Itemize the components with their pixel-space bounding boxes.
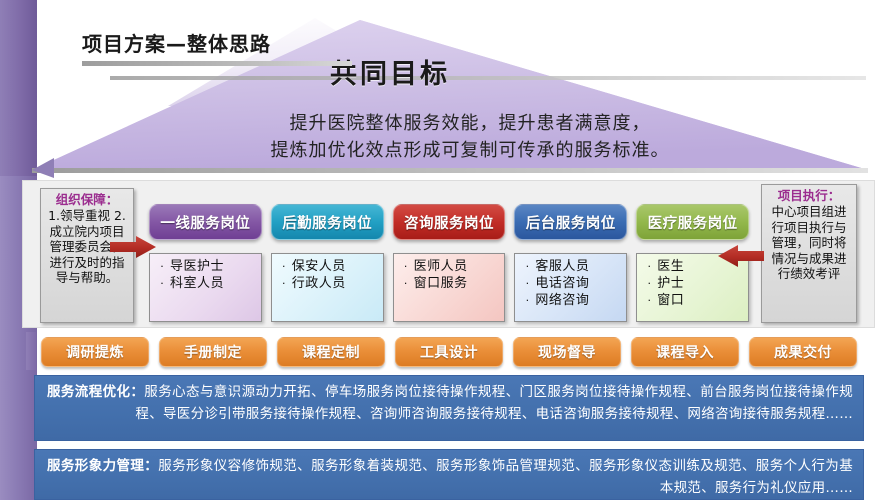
bullet-icon: · [398, 275, 414, 292]
process-button-course[interactable]: 课程定制 [277, 337, 385, 367]
role-pill-medical[interactable]: 医疗服务岗位 [636, 204, 749, 240]
process-button-import[interactable]: 课程导入 [631, 337, 739, 367]
role-detail-logistics: ·保安人员 ·行政人员 [271, 253, 384, 322]
process-button-research[interactable]: 调研提炼 [41, 337, 149, 367]
service-image-panel: 服务形象力管理：服务形象仪容修饰规范、服务形象着装规范、服务形象饰品管理规范、服… [34, 449, 864, 500]
bullet-icon: · [641, 258, 657, 275]
list-item-label: 电话咨询 [535, 275, 589, 292]
list-item: ·网络咨询 [519, 292, 624, 309]
list-item: ·电话咨询 [519, 275, 624, 292]
arrow-right-icon [110, 236, 156, 262]
process-button-tools[interactable]: 工具设计 [395, 337, 503, 367]
service-flow-body: 服务心态与意识源动力开拓、停车场服务岗位接待操作规程、门区服务岗位接待操作规程、… [135, 384, 853, 422]
project-execution-box: 项目执行： 中心项目组进行项目执行与管理，同时将情况与成果进行绩效考评 [761, 184, 857, 323]
project-execution-body: 中心项目组进行项目执行与管理，同时将情况与成果进行绩效考评 [766, 204, 852, 282]
service-image-label: 服务形象力管理： [47, 458, 158, 474]
list-item: ·护士 [641, 275, 746, 292]
list-item-label: 导医护士 [170, 258, 224, 275]
role-column-3: 后台服务岗位 ·客服人员 ·电话咨询 ·网络咨询 [514, 204, 627, 322]
service-flow-label: 服务流程优化： [47, 384, 144, 400]
list-item-label: 护士 [657, 275, 684, 292]
role-columns: 一线服务岗位 ·导医护士 ·科室人员 后勤服务岗位 ·保安人员 ·行政人员 咨询… [149, 204, 749, 322]
bullet-icon: · [519, 258, 535, 275]
list-item-label: 客服人员 [535, 258, 589, 275]
list-item: ·行政人员 [276, 275, 381, 292]
role-detail-frontline: ·导医护士 ·科室人员 [149, 253, 262, 322]
list-item-label: 医师人员 [414, 258, 468, 275]
role-detail-backoffice: ·客服人员 ·电话咨询 ·网络咨询 [514, 253, 627, 322]
bullet-icon: · [398, 258, 414, 275]
bullet-icon: · [276, 258, 292, 275]
list-item: ·客服人员 [519, 258, 624, 275]
role-pill-consulting[interactable]: 咨询服务岗位 [393, 204, 506, 240]
service-flow-panel: 服务流程优化：服务心态与意识源动力开拓、停车场服务岗位接待操作规程、门区服务岗位… [34, 375, 864, 441]
list-item-label: 窗口 [657, 292, 684, 309]
role-pill-backoffice[interactable]: 后台服务岗位 [514, 204, 627, 240]
process-button-onsite[interactable]: 现场督导 [513, 337, 621, 367]
role-item-list: ·保安人员 ·行政人员 [276, 258, 381, 292]
list-item-label: 行政人员 [292, 275, 346, 292]
list-item-label: 医生 [657, 258, 684, 275]
list-item: ·保安人员 [276, 258, 381, 275]
role-item-list: ·导医护士 ·科室人员 [154, 258, 259, 292]
bullet-icon: · [519, 292, 535, 309]
lower-left-accent [26, 332, 36, 370]
project-execution-heading: 项目执行： [766, 188, 852, 204]
role-column-2: 咨询服务岗位 ·医师人员 ·窗口服务 [393, 204, 506, 322]
slide-canvas: 项目方案—整体思路 共同目标 提升医院整体服务效能，提升患者满意度， 提炼加优化… [0, 0, 893, 500]
list-item: ·导医护士 [154, 258, 259, 275]
list-item: ·窗口服务 [398, 275, 503, 292]
process-button-delivery[interactable]: 成果交付 [749, 337, 857, 367]
list-item: ·医师人员 [398, 258, 503, 275]
role-pill-logistics[interactable]: 后勤服务岗位 [271, 204, 384, 240]
arrow-left-icon [718, 245, 764, 271]
page-title: 项目方案—整体思路 [82, 28, 352, 57]
process-button-manual[interactable]: 手册制定 [159, 337, 267, 367]
page-title-block: 项目方案—整体思路 [82, 28, 352, 66]
list-item-label: 科室人员 [170, 275, 224, 292]
goal-line-1: 提升医院整体服务效能，提升患者满意度， [150, 110, 790, 137]
title-underline [82, 61, 352, 66]
bullet-icon: · [154, 258, 170, 275]
list-item: ·科室人员 [154, 275, 259, 292]
goal-line-2: 提炼加优化效点形成可复制可传承的服务标准。 [150, 137, 790, 164]
role-column-1: 后勤服务岗位 ·保安人员 ·行政人员 [271, 204, 384, 322]
service-flow-text: 服务流程优化：服务心态与意识源动力开拓、停车场服务岗位接待操作规程、门区服务岗位… [47, 381, 853, 425]
bullet-icon: · [276, 275, 292, 292]
service-image-text: 服务形象力管理：服务形象仪容修饰规范、服务形象着装规范、服务形象饰品管理规范、服… [47, 455, 853, 499]
goal-description: 提升医院整体服务效能，提升患者满意度， 提炼加优化效点形成可复制可传承的服务标准… [150, 110, 790, 164]
list-item: ·窗口 [641, 292, 746, 309]
role-column-0: 一线服务岗位 ·导医护士 ·科室人员 [149, 204, 262, 322]
bullet-icon: · [641, 292, 657, 309]
process-button-row: 调研提炼 手册制定 课程定制 工具设计 现场督导 课程导入 成果交付 [41, 337, 857, 367]
bullet-icon: · [519, 275, 535, 292]
organization-guarantee-heading: 组织保障： [45, 192, 129, 208]
list-item-label: 窗口服务 [414, 275, 468, 292]
list-item-label: 保安人员 [292, 258, 346, 275]
bullet-icon: · [641, 275, 657, 292]
role-item-list: ·客服人员 ·电话咨询 ·网络咨询 [519, 258, 624, 309]
role-detail-consulting: ·医师人员 ·窗口服务 [393, 253, 506, 322]
role-pill-frontline[interactable]: 一线服务岗位 [149, 204, 262, 240]
role-item-list: ·医师人员 ·窗口服务 [398, 258, 503, 292]
bullet-icon: · [154, 275, 170, 292]
list-item-label: 网络咨询 [535, 292, 589, 309]
service-image-body: 服务形象仪容修饰规范、服务形象着装规范、服务形象饰品管理规范、服务形象仪态训练及… [158, 458, 853, 496]
